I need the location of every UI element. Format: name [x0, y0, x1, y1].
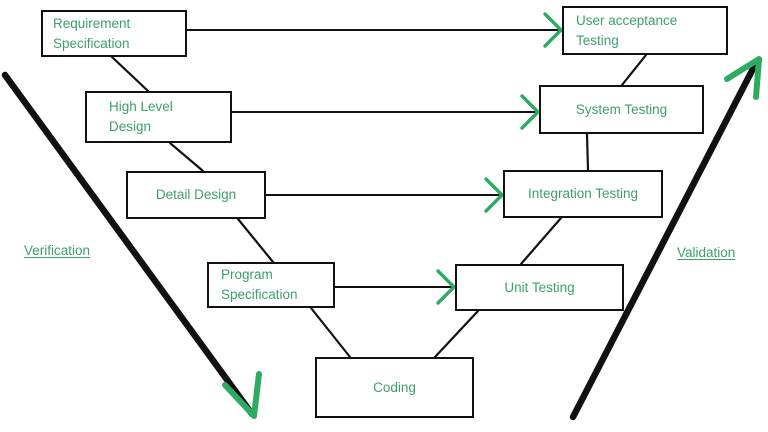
connector-unittesting-to-integrationtesting [521, 218, 561, 264]
stage-box-system-testing[interactable]: System Testing [539, 85, 704, 134]
connector-systemtesting-to-useracceptance [622, 55, 646, 85]
validation-phase-label: Validation [677, 245, 735, 260]
stage-label-integration-testing: Integration Testing [528, 184, 638, 204]
verification-phase-label: Verification [24, 243, 90, 258]
stage-box-coding[interactable]: Coding [315, 357, 474, 418]
stage-box-requirement-specification[interactable]: Requirement Specification [41, 10, 187, 57]
v-model-diagram: Requirement Specification High Level Des… [0, 0, 768, 432]
connector-integrationtesting-to-systemtesting [587, 134, 588, 170]
stage-label-coding: Coding [373, 378, 416, 398]
stage-label-program-specification: Program Specification [221, 265, 298, 304]
arrow-program-specification-to-unit-testing [335, 271, 454, 303]
connector-highlevel-to-detaildesign [170, 143, 203, 171]
horizontal-mapping-arrows [187, 14, 561, 303]
arrow-detail-design-to-integration-testing [266, 179, 502, 211]
connector-requirement-to-highlevel [112, 57, 148, 91]
stage-box-unit-testing[interactable]: Unit Testing [455, 264, 624, 311]
stage-box-program-specification[interactable]: Program Specification [207, 262, 335, 308]
stage-label-system-testing: System Testing [576, 100, 667, 120]
arrow-high-level-design-to-system-testing [232, 96, 538, 128]
stage-box-user-acceptance-testing[interactable]: User acceptance Testing [562, 6, 728, 55]
stage-box-integration-testing[interactable]: Integration Testing [503, 170, 663, 218]
stage-label-user-acceptance-testing: User acceptance Testing [576, 11, 677, 50]
connector-coding-to-unittesting [435, 311, 478, 357]
stage-label-high-level-design: High Level Design [109, 97, 173, 136]
stage-label-detail-design: Detail Design [156, 185, 236, 205]
arrow-requirement-to-user-acceptance-testing [187, 14, 561, 46]
connector-detaildesign-to-programspec [238, 219, 273, 262]
stage-box-high-level-design[interactable]: High Level Design [85, 91, 232, 143]
connector-programspec-to-coding [311, 308, 350, 357]
stage-box-detail-design[interactable]: Detail Design [126, 171, 266, 219]
stage-label-unit-testing: Unit Testing [504, 278, 574, 298]
stage-label-requirement-specification: Requirement Specification [53, 14, 130, 53]
